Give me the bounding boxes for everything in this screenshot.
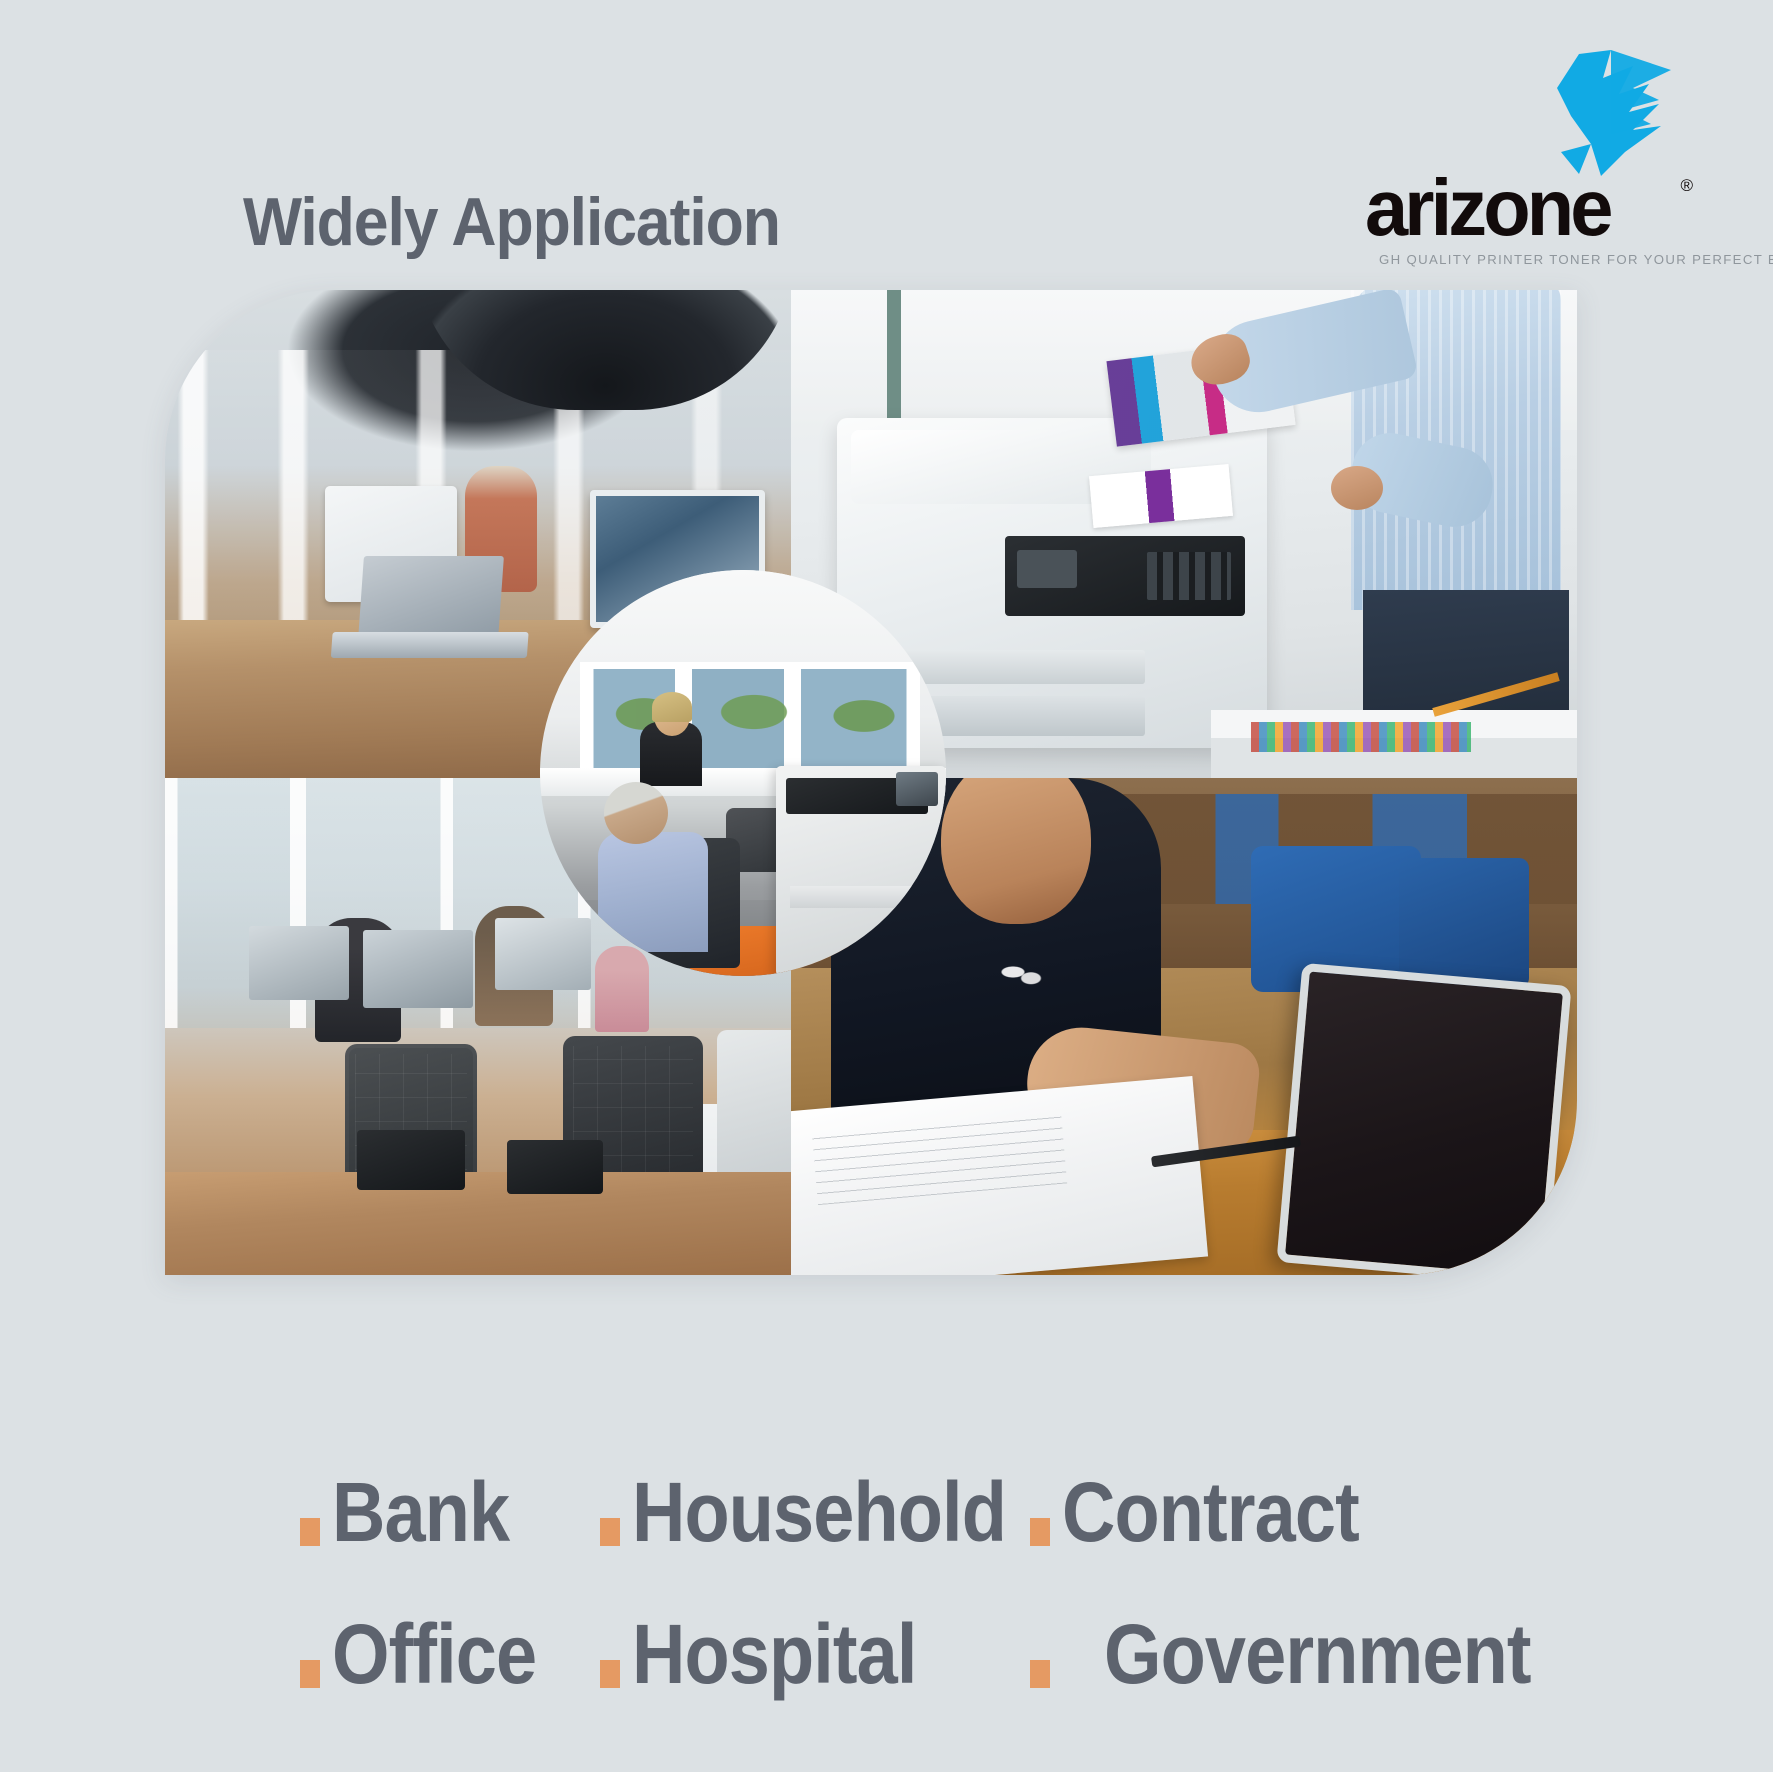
inset-seated-man-body [598, 832, 708, 952]
application-label-household: Household [600, 1470, 1057, 1554]
desktop-monitor-b [363, 930, 473, 1008]
application-label-hospital: Hospital [600, 1612, 955, 1696]
application-label-text: Household [632, 1470, 1006, 1554]
desk-phone-b [507, 1140, 603, 1194]
printer-display [1017, 550, 1077, 588]
registered-mark-icon: ® [1680, 176, 1693, 196]
student-head [941, 778, 1091, 924]
application-photo-collage [165, 290, 1577, 1275]
application-labels: Bank Household Contract Office Hospital [0, 1420, 1773, 1710]
collage-circle-inset-copier-office [540, 570, 946, 976]
bullet-square-icon [600, 1518, 620, 1546]
open-laptop [358, 556, 504, 640]
inset-multifunction-copier [776, 766, 946, 976]
application-label-text: Bank [332, 1470, 509, 1554]
desktop-monitor-a [249, 926, 349, 1000]
brand-tagline: GH QUALITY PRINTER TONER FOR YOUR PERFEC… [1379, 252, 1773, 267]
poster-canvas: Widely Application arizone ® GH QUALITY … [0, 0, 1773, 1772]
logo-wordmark: arizone [1365, 166, 1685, 250]
printer-control-panel [1005, 536, 1245, 616]
bullet-square-icon [600, 1660, 620, 1688]
wooden-desk-row [165, 1172, 791, 1275]
brand-logo: arizone ® GH QUALITY PRINTER TONER FOR Y… [1365, 48, 1695, 258]
page-title: Widely Application [243, 183, 780, 261]
inset-copier-tray [790, 886, 924, 908]
bullet-square-icon [300, 1660, 320, 1688]
person-hand-lower [1331, 466, 1383, 510]
application-label-government: Government [1030, 1612, 1589, 1696]
application-label-bank: Bank [300, 1470, 533, 1554]
blue-classroom-chair-b [1399, 858, 1529, 988]
tablet-device [1276, 963, 1571, 1275]
application-label-contract: Contract [1030, 1470, 1399, 1554]
application-labels-row-1: Bank Household Contract [0, 1470, 1773, 1580]
application-label-text: Hospital [632, 1612, 917, 1696]
application-labels-row-2: Office Hospital Government [0, 1612, 1773, 1722]
printed-samples-stack [1211, 710, 1577, 778]
printed-worksheets [791, 1076, 1208, 1275]
application-label-text: Contract [1062, 1470, 1359, 1554]
desk-phone-a [357, 1130, 465, 1190]
application-label-text: Office [332, 1612, 536, 1696]
bullet-square-icon [1030, 1518, 1050, 1546]
inset-copier-touchscreen [896, 772, 938, 806]
printer-keypad [1147, 552, 1231, 600]
application-label-text: Government [1104, 1612, 1531, 1696]
inset-standing-woman-hair [652, 692, 692, 722]
hummingbird-icon [1483, 48, 1673, 178]
inset-seated-man-head [604, 782, 668, 844]
inset-outdoor-foliage [584, 674, 916, 734]
bullet-square-icon [300, 1518, 320, 1546]
uniform-crest [977, 946, 1067, 998]
application-label-office: Office [300, 1612, 564, 1696]
bullet-square-icon [1030, 1660, 1050, 1688]
